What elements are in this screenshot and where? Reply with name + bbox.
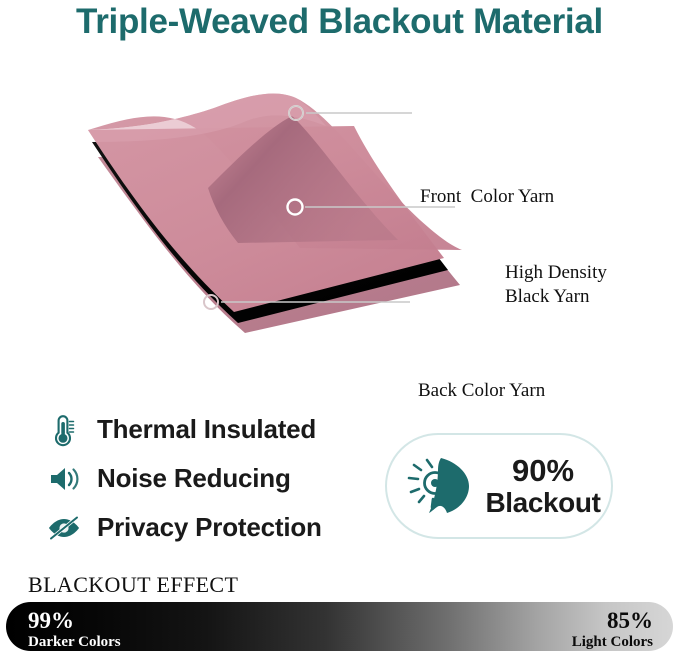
feature-item-noise-reducing: Noise Reducing <box>44 457 374 500</box>
badge-text-block: 90% Blackout <box>481 455 611 518</box>
darker-colors-percent: 99% <box>28 608 121 634</box>
eye-slash-icon <box>44 509 84 547</box>
feature-item-privacy-protection: Privacy Protection <box>44 506 374 549</box>
callout-label-front-color-yarn: Front Color Yarn <box>420 185 554 209</box>
light-colors-caption: Light Colors <box>572 634 653 651</box>
blackout-effect-heading: BLACKOUT EFFECT <box>28 572 238 598</box>
sun-behind-curtain-icon <box>403 450 481 522</box>
sun-rays <box>409 460 433 507</box>
bar-label-light-colors: 85% Light Colors <box>572 608 653 651</box>
speaker-sound-icon <box>44 460 84 498</box>
light-colors-percent: 85% <box>572 608 653 634</box>
blackout-percentage-badge: 90% Blackout <box>385 433 613 539</box>
fabric-layers-svg <box>0 80 679 355</box>
page-title: Triple-Weaved Blackout Material <box>0 2 679 42</box>
feature-list: Thermal Insulated Noise Reducing Privacy… <box>44 408 374 555</box>
bar-label-darker-colors: 99% Darker Colors <box>28 608 121 651</box>
callout-label-back-color-yarn: Back Color Yarn <box>418 379 545 403</box>
thermometer-icon <box>44 411 84 449</box>
badge-percent: 90% <box>481 455 605 488</box>
feature-label-thermal-insulated: Thermal Insulated <box>97 414 316 445</box>
feature-label-noise-reducing: Noise Reducing <box>97 463 291 494</box>
darker-colors-caption: Darker Colors <box>28 634 121 651</box>
badge-word: Blackout <box>481 488 605 518</box>
callout-label-line1: High Density <box>505 262 607 283</box>
callout-label-high-density-black-yarn: High DensityBlack Yarn <box>505 261 607 310</box>
callout-label-line2: Black Yarn <box>505 286 589 307</box>
blackout-effect-gradient-bar: 99% Darker Colors 85% Light Colors <box>6 602 673 651</box>
fabric-layers-diagram: Front Color Yarn High DensityBlack Yarn … <box>0 80 679 355</box>
feature-label-privacy-protection: Privacy Protection <box>97 512 322 543</box>
feature-item-thermal-insulated: Thermal Insulated <box>44 408 374 451</box>
